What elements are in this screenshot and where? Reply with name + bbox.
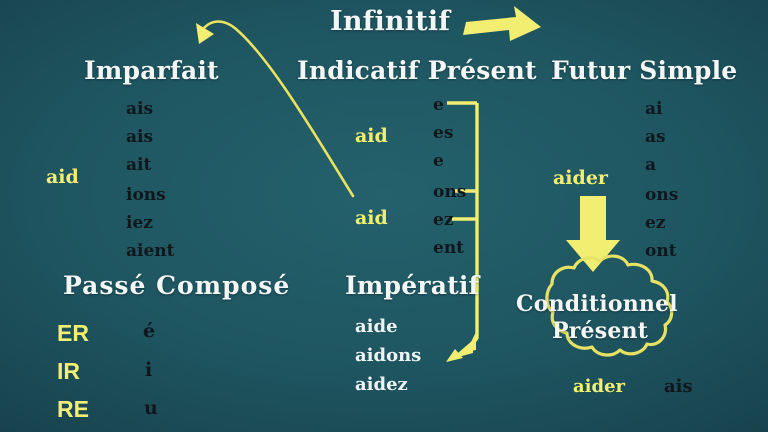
indicatif-present-ending: ez (433, 210, 453, 230)
heading-indicatif-present: Indicatif Présent (297, 56, 537, 85)
imparfait-ending: aient (126, 241, 175, 261)
passe-compose-participle: u (144, 397, 158, 419)
imparfait-ending: ions (126, 185, 166, 205)
curved-arrow-up-left-icon (196, 22, 353, 197)
imparfait-ending: iez (126, 213, 153, 233)
futur-simple-ending: ont (645, 241, 677, 261)
heading-passe-compose: Passé Composé (63, 271, 290, 300)
passe-compose-group: ER (57, 320, 89, 347)
conditionnel-ending: ais (664, 376, 693, 397)
indicatif-present-ending: ent (433, 238, 464, 258)
imperatif-form: aide (355, 316, 398, 337)
passe-compose-participle: é (143, 320, 155, 342)
futur-simple-ending: ez (645, 213, 665, 233)
imparfait-stem: aid (46, 166, 79, 188)
indicatif-present-ending: ons (433, 182, 466, 202)
imperatif-form: aidons (355, 345, 421, 366)
futur-simple-ending: as (645, 127, 666, 147)
passe-compose-group: RE (57, 396, 89, 423)
indicatif-present-ending: e (433, 95, 444, 115)
conjugation-diagram: Infinitif Imparfait Indicatif Présent Fu… (0, 0, 768, 432)
futur-simple-ending: a (645, 155, 656, 175)
heading-imperatif: Impératif (345, 271, 480, 300)
heading-imparfait: Imparfait (84, 56, 219, 85)
passe-compose-participle: i (145, 359, 152, 381)
heading-infinitif: Infinitif (330, 6, 450, 37)
imperatif-form: aidez (355, 374, 408, 395)
indicatif-present-ending: es (433, 123, 453, 143)
conditionnel-cloud-line2: Présent (552, 318, 648, 344)
imparfait-ending: ais (126, 99, 153, 119)
imparfait-ending: ais (126, 127, 153, 147)
imparfait-ending: ait (126, 155, 151, 175)
futur-simple-ending: ai (645, 99, 662, 119)
conditionnel-stem: aider (573, 376, 625, 397)
heading-futur-simple: Futur Simple (551, 56, 737, 85)
indicatif-present-ending: e (433, 151, 444, 171)
futur-simple-ending: ons (645, 185, 678, 205)
arrow-down-icon (566, 196, 620, 272)
passe-compose-group: IR (57, 358, 80, 385)
conditionnel-cloud-line1: Conditionnel (516, 291, 678, 317)
indicatif-present-stem-top: aid (355, 125, 388, 147)
arrow-right-icon (463, 6, 541, 41)
indicatif-present-stem-bottom: aid (355, 207, 388, 229)
futur-simple-stem: aider (553, 167, 608, 189)
